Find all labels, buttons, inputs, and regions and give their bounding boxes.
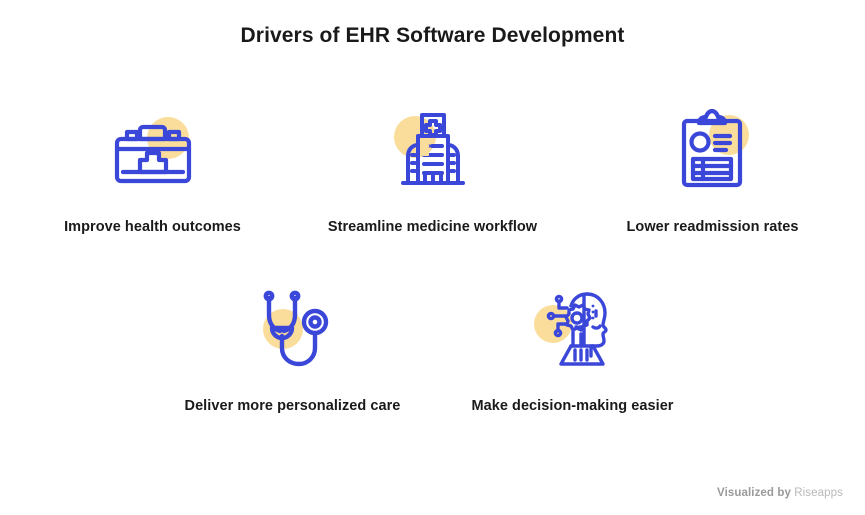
page-title: Drivers of EHR Software Development xyxy=(0,22,865,50)
attribution-prefix: Visualized by xyxy=(717,487,791,499)
attribution-footer: Visualized by Riseapps xyxy=(717,485,843,501)
driver-item-improve-health-outcomes[interactable]: Improve health outcomes xyxy=(13,104,293,237)
driver-item-deliver-more-personalized-care[interactable]: Deliver more personalized care xyxy=(153,283,433,416)
drivers-row-1: Improve health outcomes xyxy=(0,104,865,237)
driver-label: Make decision-making easier xyxy=(471,396,673,416)
driver-label: Streamline medicine workflow xyxy=(328,217,537,237)
ai-decision-head-icon xyxy=(525,283,621,375)
infographic-canvas: Drivers of EHR Software Development xyxy=(0,0,865,515)
driver-item-streamline-medicine-workflow[interactable]: Streamline medicine workflow xyxy=(293,104,573,237)
clipboard-report-icon xyxy=(665,104,761,196)
driver-item-make-decision-making-easier[interactable]: Make decision-making easier xyxy=(433,283,713,416)
attribution-brand: Riseapps xyxy=(794,487,843,499)
medical-bag-icon xyxy=(105,104,201,196)
driver-item-lower-readmission-rates[interactable]: Lower readmission rates xyxy=(573,104,853,237)
hospital-building-icon xyxy=(385,104,481,196)
driver-label: Improve health outcomes xyxy=(64,217,241,237)
drivers-row-2: Deliver more personalized care xyxy=(0,283,865,416)
stethoscope-icon xyxy=(245,283,341,375)
driver-label: Lower readmission rates xyxy=(627,217,799,237)
driver-label: Deliver more personalized care xyxy=(185,396,401,416)
